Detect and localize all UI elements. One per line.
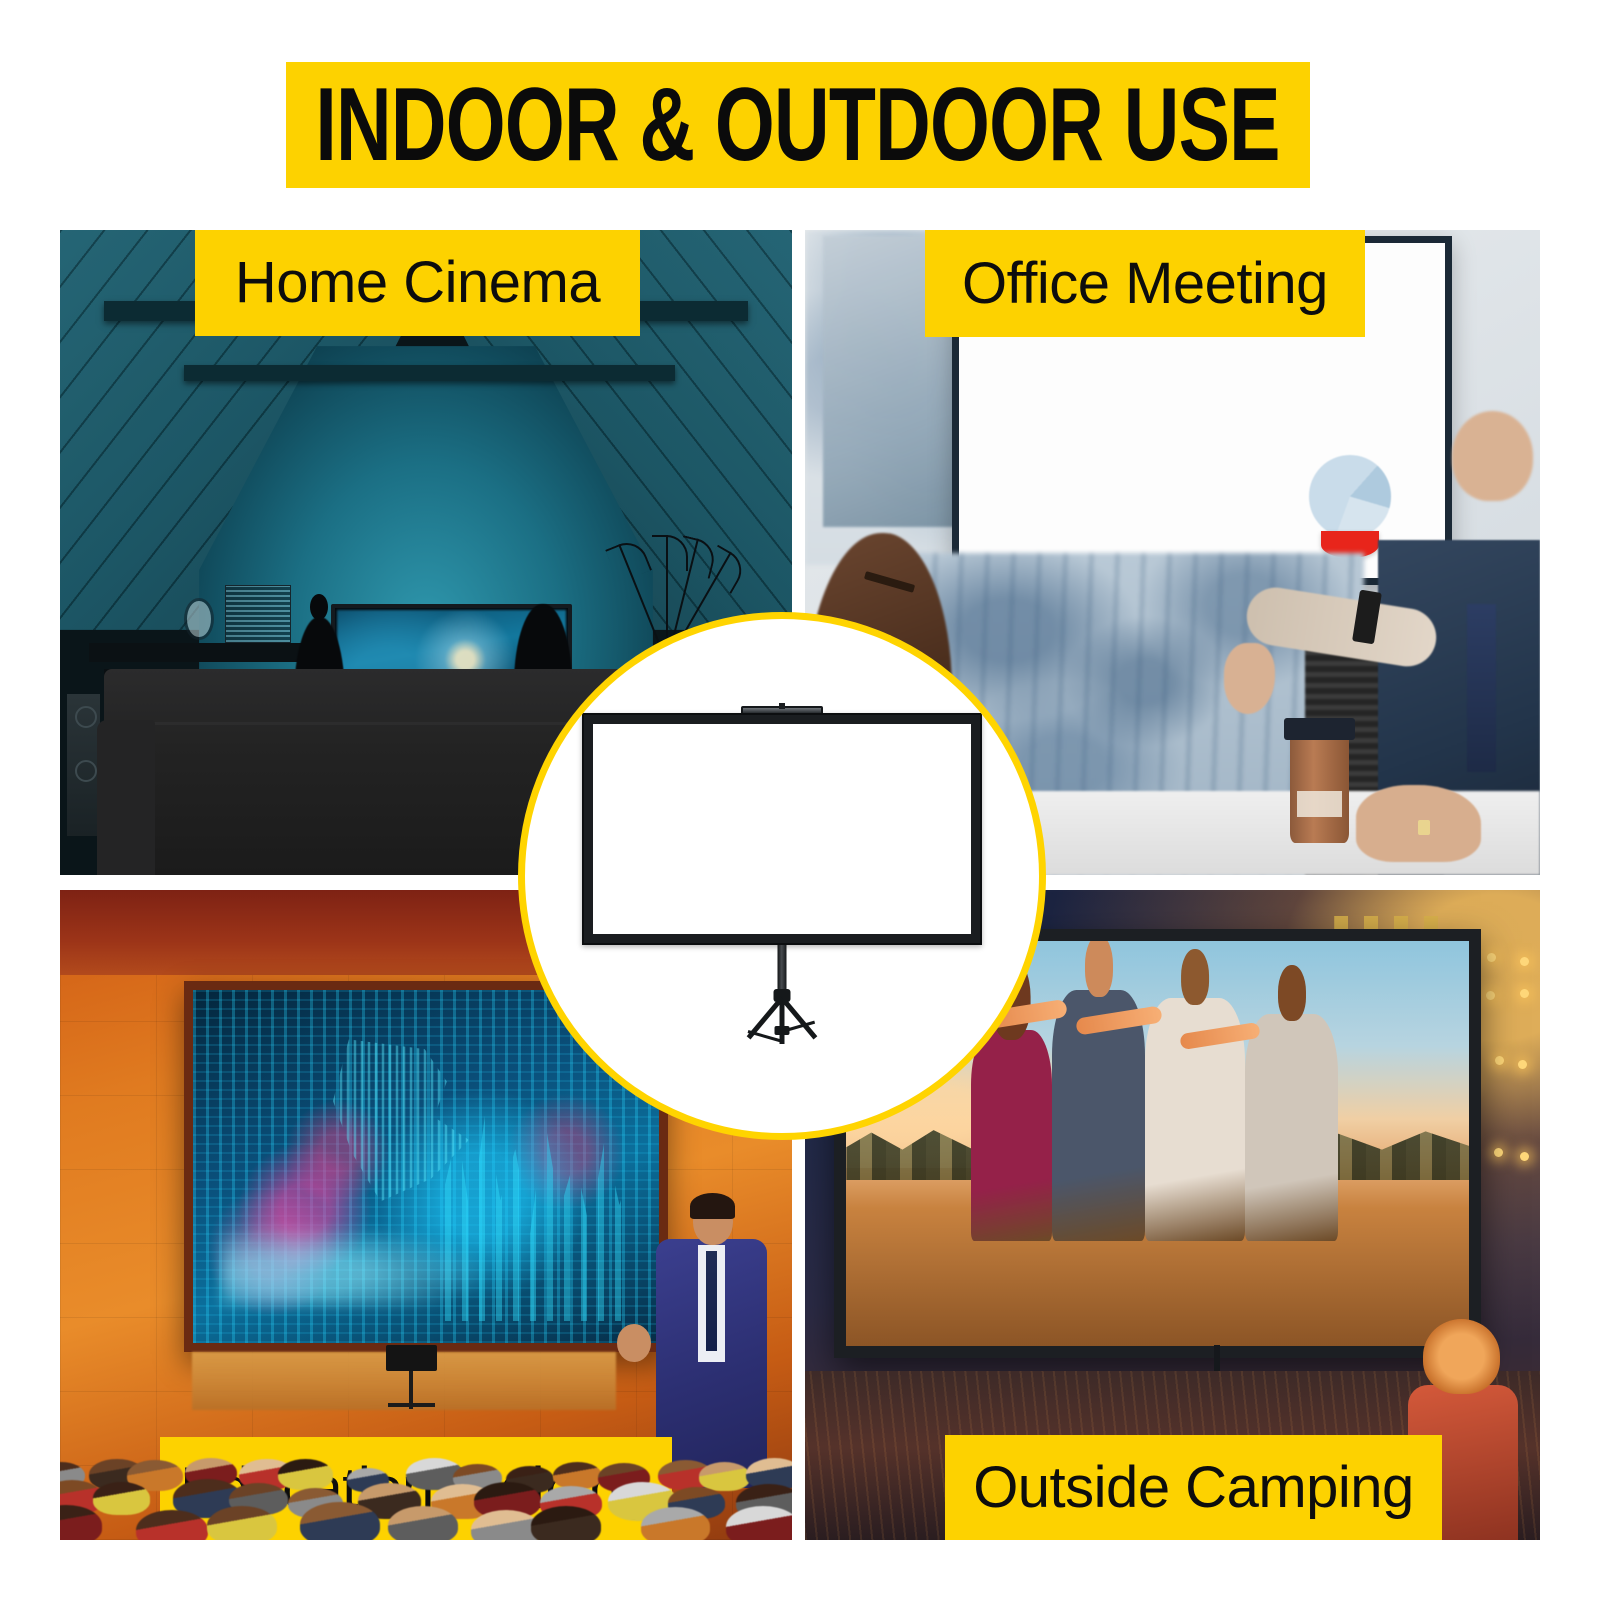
audience-head — [726, 1506, 793, 1540]
label-home-cinema: Home Cinema — [195, 230, 640, 336]
light-bulb-icon — [1520, 1152, 1529, 1161]
friend-head — [1085, 941, 1113, 997]
presenter-tie — [706, 1251, 717, 1350]
audience-head — [531, 1506, 601, 1540]
pie-chart-icon — [1309, 455, 1392, 538]
audience-head — [641, 1507, 710, 1540]
label-text: Home Cinema — [235, 254, 600, 312]
audience-head — [300, 1502, 380, 1540]
tripod-leg — [780, 998, 785, 1044]
audience-head — [471, 1510, 540, 1540]
coffee-cup — [1290, 733, 1349, 843]
audience-head — [207, 1506, 277, 1540]
light-bulb-icon — [1495, 1056, 1504, 1065]
tripod-projector-screen-product — [582, 706, 982, 1046]
light-bulb-icon — [1494, 1148, 1503, 1157]
page-title: INDOOR & OUTDOOR USE — [316, 73, 1280, 177]
wall-clock-icon — [184, 598, 213, 640]
audience-head — [93, 1482, 151, 1514]
wedding-ring — [1418, 820, 1430, 835]
necktie — [1467, 604, 1496, 772]
floor-speaker — [67, 694, 100, 836]
light-bulb-icon — [1520, 957, 1529, 966]
wall-shelf — [89, 643, 316, 662]
coffee-cup-sleeve — [1297, 791, 1341, 817]
audience-head — [388, 1506, 458, 1540]
screen-frame — [582, 713, 982, 945]
ceiling-beam — [184, 365, 674, 381]
label-text: Outside Camping — [973, 1459, 1414, 1517]
audience-head — [60, 1505, 102, 1540]
label-office-meeting: Office Meeting — [925, 230, 1365, 337]
title-banner: INDOOR & OUTDOOR USE — [286, 62, 1310, 188]
product-highlight-circle — [518, 612, 1046, 1140]
child-hair — [1423, 1319, 1500, 1394]
friend-head — [1181, 949, 1209, 1005]
audience-head — [553, 1462, 602, 1489]
couch-arm — [97, 720, 156, 875]
magazine-rack — [225, 585, 291, 643]
friend-figure — [1245, 1014, 1338, 1241]
label-text: Office Meeting — [962, 255, 1328, 313]
light-bulb-icon — [1487, 953, 1496, 962]
light-bulb-icon — [1520, 989, 1529, 998]
coffee-cup-lid — [1284, 718, 1355, 740]
audience-head — [278, 1459, 333, 1490]
tripod-hub — [775, 1026, 790, 1035]
viewer-hair-bun — [310, 594, 328, 620]
light-bulb-icon — [1518, 1060, 1527, 1069]
presenter-hair — [690, 1193, 735, 1219]
presenter-hand — [617, 1324, 651, 1362]
label-outside-camping: Outside Camping — [945, 1435, 1442, 1540]
friend-figure — [971, 1030, 1052, 1241]
friend-head — [1278, 965, 1306, 1021]
slide-glow — [221, 1223, 491, 1308]
light-bulb-icon — [1486, 991, 1495, 1000]
colleague-head — [1452, 411, 1533, 501]
audience-head — [699, 1462, 750, 1491]
